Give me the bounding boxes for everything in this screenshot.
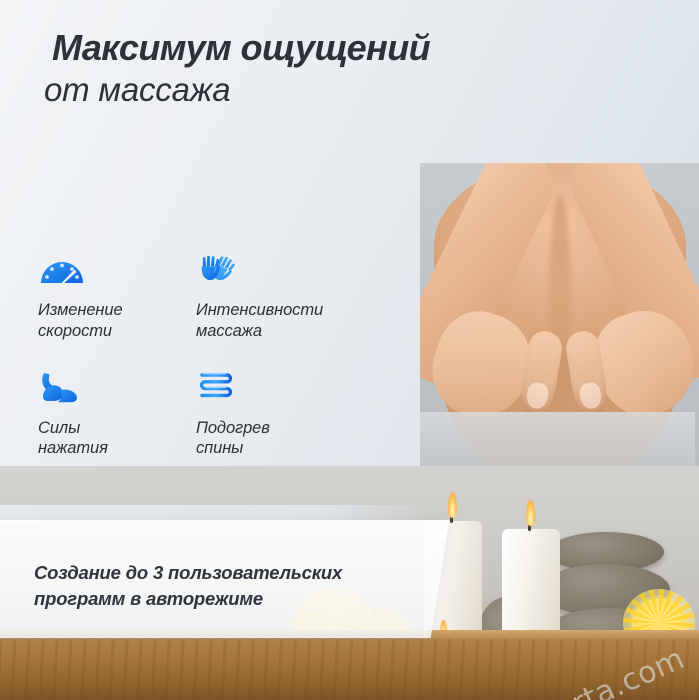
feature-pressure: Силы нажатия [38, 370, 188, 460]
speedometer-icon [38, 252, 86, 292]
feature-heating: Подогрев спины [196, 370, 356, 460]
headline-line-1: Максимум ощущений [52, 30, 612, 67]
feature-list: Изменение скорости [38, 252, 368, 459]
footer-text: Создание до 3 пользовательских программ … [34, 560, 404, 613]
massage-hands-icon [196, 252, 244, 292]
wooden-table [0, 630, 699, 700]
headline: Максимум ощущений от массажа [52, 30, 612, 109]
feature-speed-label: Изменение скорости [38, 301, 123, 340]
massage-back-photo [420, 163, 699, 466]
heating-element-icon [196, 370, 244, 410]
flexed-bicep-icon [38, 370, 86, 410]
headline-line-2: от массажа [44, 71, 612, 109]
feature-speed: Изменение скорости [38, 252, 188, 342]
thumb-nail-right [578, 381, 603, 410]
thumb-nail-left [525, 381, 550, 410]
feature-intensity-label: Интенсивности массажа [196, 301, 323, 340]
promo-poster: Максимум ощущений от массажа [0, 0, 699, 700]
towel [420, 412, 695, 466]
feature-heating-label: Подогрев спины [196, 419, 270, 458]
feature-pressure-label: Силы нажатия [38, 419, 108, 458]
feature-intensity: Интенсивности массажа [196, 252, 356, 342]
